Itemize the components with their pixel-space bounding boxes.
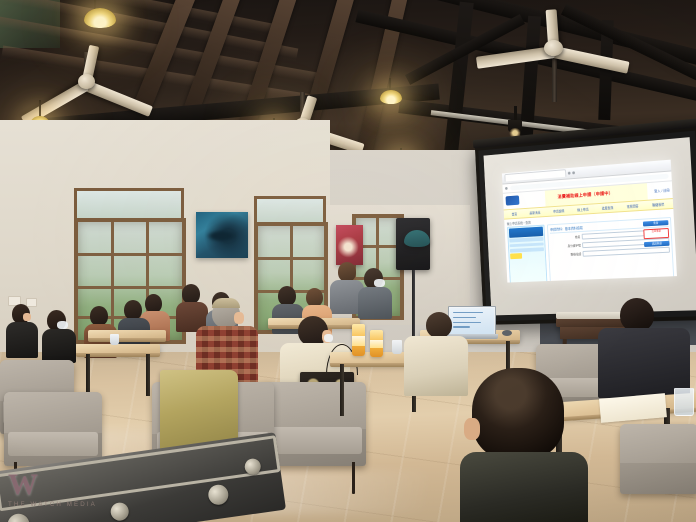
speaker-stand (412, 270, 415, 336)
nav-item-6[interactable]: 聯絡我們 (652, 201, 664, 207)
notice-box: 注意事項 (643, 228, 669, 240)
chair-back (262, 382, 366, 429)
site-logo (505, 195, 519, 205)
bottle-label (352, 336, 365, 346)
head (278, 286, 296, 306)
face (234, 312, 244, 324)
wall-outlet-plate (26, 298, 37, 307)
nav-item-4[interactable]: 進度查詢 (602, 205, 614, 211)
fan-blade (476, 46, 555, 69)
armchair-far-left-front (4, 392, 102, 466)
ceiling-fan-right (478, 2, 638, 74)
face (23, 313, 31, 321)
sidebar-highlight (510, 253, 523, 259)
face-mask (374, 279, 385, 287)
laptop-display (450, 308, 494, 334)
back-arrow-icon[interactable] (505, 187, 508, 190)
query-button[interactable]: 查詢 (643, 220, 669, 226)
head-back (472, 368, 564, 460)
ceiling-fan-left (20, 52, 160, 122)
form-label: 姓名 (551, 235, 581, 240)
beverage-bottle (352, 324, 365, 356)
chrome-dot-icon (572, 171, 575, 174)
form-actions: 查詢 注意事項 送出申請 (643, 220, 670, 250)
torso (460, 452, 588, 522)
site-body: 線上申請系統 › 查詢 申請資料：基本資料填寫 姓名 (504, 209, 677, 283)
head (90, 306, 108, 326)
nav-item-5[interactable]: 常見問答 (627, 203, 639, 209)
fan-hub (544, 40, 563, 56)
face-mask (324, 334, 333, 342)
table-leg (146, 354, 150, 396)
site-sidebar (507, 225, 548, 283)
torso (6, 322, 38, 358)
torso (358, 287, 392, 319)
projector-screen: 消費補助線上申請（申請中） 登入 / 註冊 首頁 最新消息 申請說明 線上申請 … (475, 126, 696, 324)
screen-surface: 消費補助線上申請（申請中） 登入 / 註冊 首頁 最新消息 申請說明 線上申請 … (484, 137, 696, 315)
table-leg (340, 364, 344, 416)
nav-item-0[interactable]: 首頁 (512, 211, 518, 216)
sidebar-line (510, 247, 545, 252)
ear (464, 418, 480, 440)
bottle-label (370, 340, 383, 348)
beverage-bottle (370, 330, 383, 357)
nav-item-2[interactable]: 申請說明 (553, 208, 564, 213)
head (620, 298, 654, 332)
torso (404, 336, 468, 396)
face-mask (57, 321, 68, 329)
armchair-foreground-right (620, 424, 696, 494)
lamp-shade (380, 90, 402, 104)
laptop-screen[interactable] (448, 306, 496, 336)
torso (42, 329, 76, 363)
head (426, 312, 452, 338)
lamp-shade (84, 8, 116, 28)
submit-button[interactable]: 送出申請 (644, 241, 670, 247)
fan-blade (84, 80, 153, 116)
chair-back (620, 424, 696, 463)
cup (392, 340, 402, 354)
nav-item-3[interactable]: 線上申請 (577, 206, 589, 212)
cap (212, 298, 240, 308)
head (338, 262, 356, 282)
form-label: 身分證字號 (551, 244, 581, 249)
table-edge (88, 338, 166, 342)
cup (110, 334, 119, 345)
application-form: 申請資料：基本資料填寫 姓名 身分證字號 聯絡電話 (547, 217, 674, 282)
site-login-links[interactable]: 登入 / 註冊 (654, 187, 670, 193)
chair-back (4, 392, 102, 433)
drinking-glass (674, 388, 694, 416)
chair-seat (266, 427, 362, 454)
projected-browser-window: 消費補助線上申請（申請中） 登入 / 註冊 首頁 最新消息 申請說明 線上申請 … (502, 159, 677, 282)
table-left (76, 344, 160, 354)
mouse[interactable] (502, 330, 512, 336)
painting-red-abstract (336, 225, 363, 265)
ceiling-post (444, 2, 474, 153)
chair-leg (352, 462, 355, 494)
nav-item-1[interactable]: 最新消息 (529, 210, 540, 215)
form-label: 聯絡電話 (551, 252, 581, 257)
content-columns: 申請資料：基本資料填寫 姓名 身分證字號 聯絡電話 (507, 217, 674, 283)
teal-pendant-lamp (404, 230, 430, 247)
head (182, 284, 200, 304)
chrome-dot-icon (568, 171, 571, 174)
painting-blue-abstract (196, 212, 248, 258)
table-back-left (88, 330, 166, 339)
chair-seat (8, 432, 98, 456)
fan-blade (553, 46, 630, 74)
photo-scene: 消費補助線上申請（申請中） 登入 / 註冊 首頁 最新消息 申請說明 線上申請 … (0, 0, 696, 522)
head (124, 300, 142, 320)
fan-hub (78, 74, 95, 89)
